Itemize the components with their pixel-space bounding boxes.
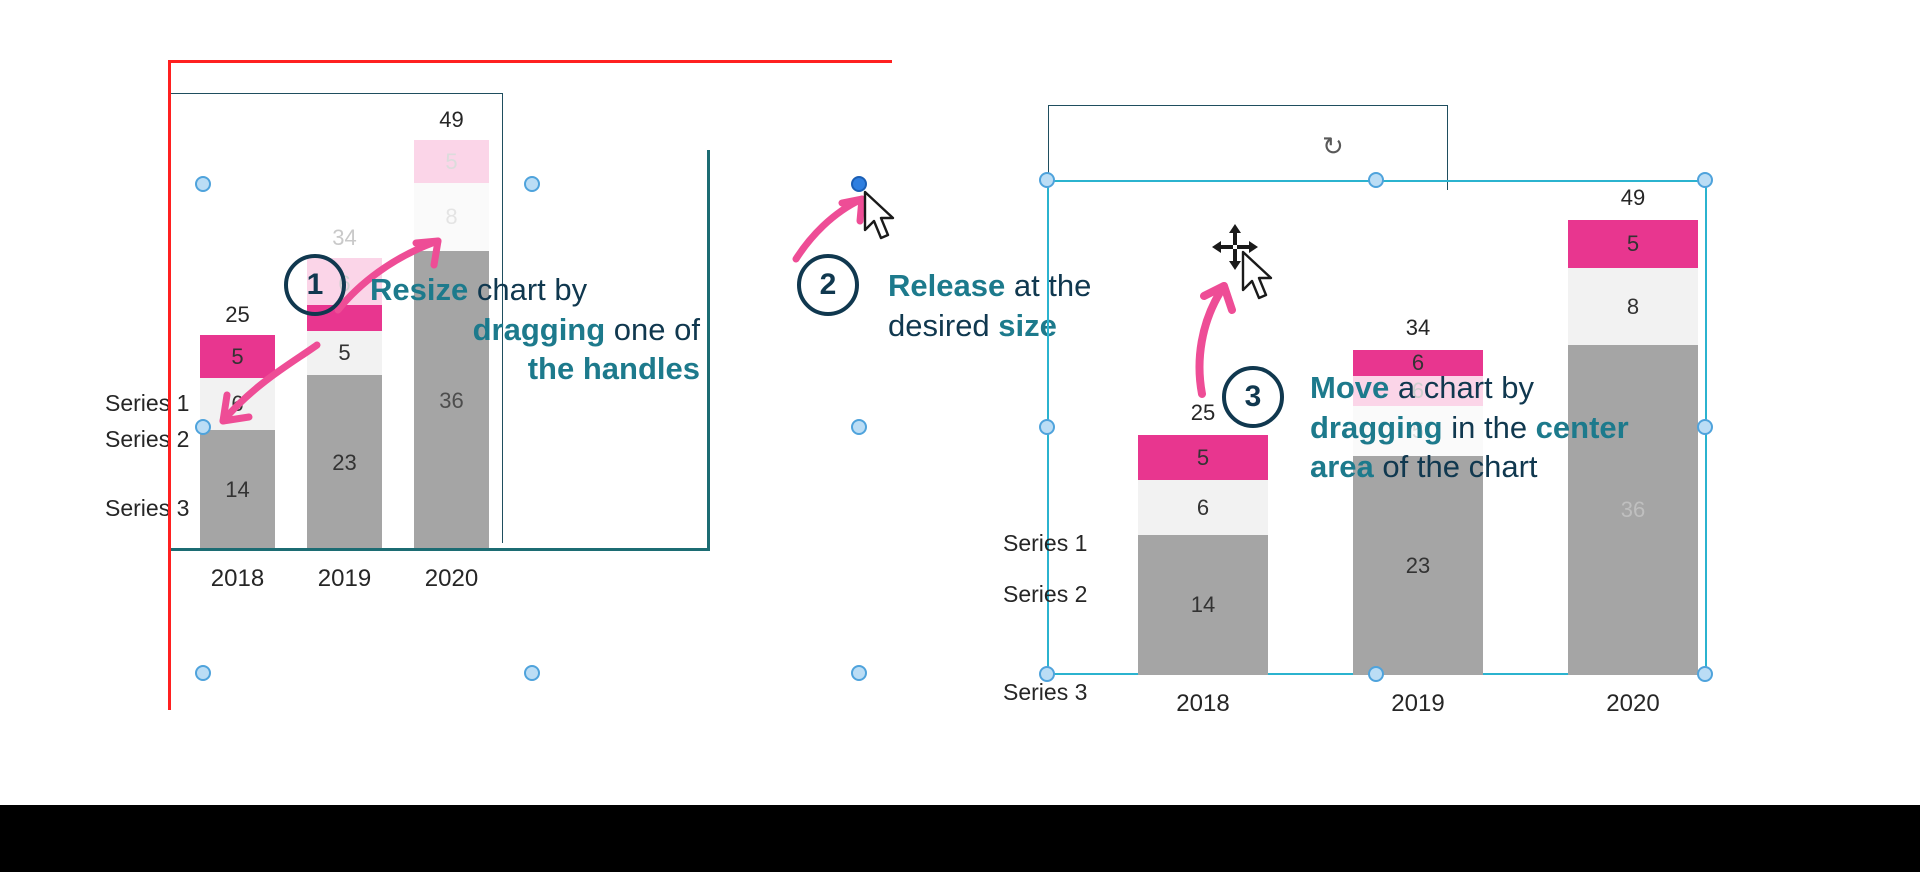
- right-handle-top-middle[interactable]: [1368, 172, 1384, 188]
- annotation-badge-1: 1: [284, 254, 346, 316]
- move-pointer-cursor-icon: [1240, 250, 1280, 304]
- annotation-3-rest-1: a chart by: [1389, 370, 1534, 405]
- pointer-cursor-icon: [862, 190, 902, 244]
- annotation-1-bold-1: Resize: [370, 272, 468, 307]
- annotation-text-1: Resize chart by dragging one of the hand…: [370, 270, 700, 389]
- right-seg-2019-series3: 23: [1353, 456, 1483, 675]
- right-seg-2018-series2: 6: [1138, 480, 1268, 535]
- right-category-label-2020: 2020: [1568, 690, 1698, 718]
- annotation-text-3: Move a chart by dragging in the center a…: [1310, 368, 1730, 487]
- left-category-label-2018: 2018: [200, 565, 275, 593]
- right-seg-2020-series2: 8: [1568, 268, 1698, 345]
- left-handle-top-left[interactable]: [195, 176, 211, 192]
- left-category-label-2019: 2019: [307, 565, 382, 593]
- left-total-2018: 25: [200, 302, 275, 328]
- annotation-3-rest-3: of the chart: [1374, 449, 1538, 484]
- annotation-3-bold-1: Move: [1310, 370, 1389, 405]
- annotation-3-bold-2b: center: [1536, 410, 1629, 445]
- left-series-label-1: Series 1: [105, 390, 189, 417]
- left-chart-right-edge: [707, 150, 710, 550]
- right-category-label-2018: 2018: [1138, 690, 1268, 718]
- annotation-1-rest-1: chart by: [468, 272, 587, 307]
- right-handle-top-left[interactable]: [1039, 172, 1055, 188]
- left-handle-bottom-middle[interactable]: [524, 665, 540, 681]
- right-seg-2020-series1: 5: [1568, 220, 1698, 268]
- left-total-2020: 49: [414, 107, 489, 133]
- left-seg-2020-series1: 5: [414, 140, 489, 183]
- annotation-2-bold-1: Release: [888, 268, 1005, 303]
- annotation-1-bold-3: the handles: [528, 351, 700, 386]
- right-seg-2018-series1: 5: [1138, 435, 1268, 480]
- annotation-2-rest-2: desired: [888, 308, 998, 343]
- left-category-label-2020: 2020: [414, 565, 489, 593]
- annotation-1-rest-2: one of: [605, 312, 700, 347]
- annotation-badge-2: 2: [797, 254, 859, 316]
- right-original-chart-outline: [1048, 105, 1448, 190]
- right-total-2019: 34: [1353, 315, 1483, 341]
- right-bar-group-2018[interactable]: 25 5 6 14: [1138, 435, 1268, 675]
- annotation-1-bold-2: dragging: [473, 312, 606, 347]
- right-total-2020: 49: [1568, 185, 1698, 211]
- right-category-label-2019: 2019: [1353, 690, 1483, 718]
- left-handle-top-middle[interactable]: [524, 176, 540, 192]
- bottom-black-band: [0, 805, 1920, 872]
- right-handle-bottom-middle[interactable]: [1368, 666, 1384, 682]
- right-handle-bottom-right[interactable]: [1697, 666, 1713, 682]
- left-seg-2018-series3: 14: [200, 430, 275, 550]
- annotation-1-arrow-down: [205, 335, 325, 435]
- right-handle-top-right[interactable]: [1697, 172, 1713, 188]
- annotation-badge-3: 3: [1222, 366, 1284, 428]
- left-series-label-3: Series 3: [105, 495, 189, 522]
- annotation-3-bold-2: dragging: [1310, 410, 1443, 445]
- right-seg-2018-series3: 14: [1138, 535, 1268, 675]
- left-handle-bottom-right[interactable]: [851, 665, 867, 681]
- annotation-3-mid-2: in the: [1443, 410, 1536, 445]
- left-chart-axis-line: [170, 548, 710, 551]
- screenshot-root: Series 1 Series 2 Series 3 25 5 6 14 34 …: [0, 0, 1920, 872]
- left-series-label-2: Series 2: [105, 426, 189, 453]
- right-series-label-1: Series 1: [1003, 530, 1087, 557]
- annotation-3-bold-3: area: [1310, 449, 1374, 484]
- right-handle-bottom-left[interactable]: [1039, 666, 1055, 682]
- right-series-label-3: Series 3: [1003, 679, 1087, 706]
- left-handle-bottom-left[interactable]: [195, 665, 211, 681]
- left-handle-middle-right[interactable]: [851, 419, 867, 435]
- rotate-handle-icon[interactable]: ↻: [1322, 133, 1344, 159]
- right-handle-middle-left[interactable]: [1039, 419, 1055, 435]
- right-series-label-2: Series 2: [1003, 581, 1087, 608]
